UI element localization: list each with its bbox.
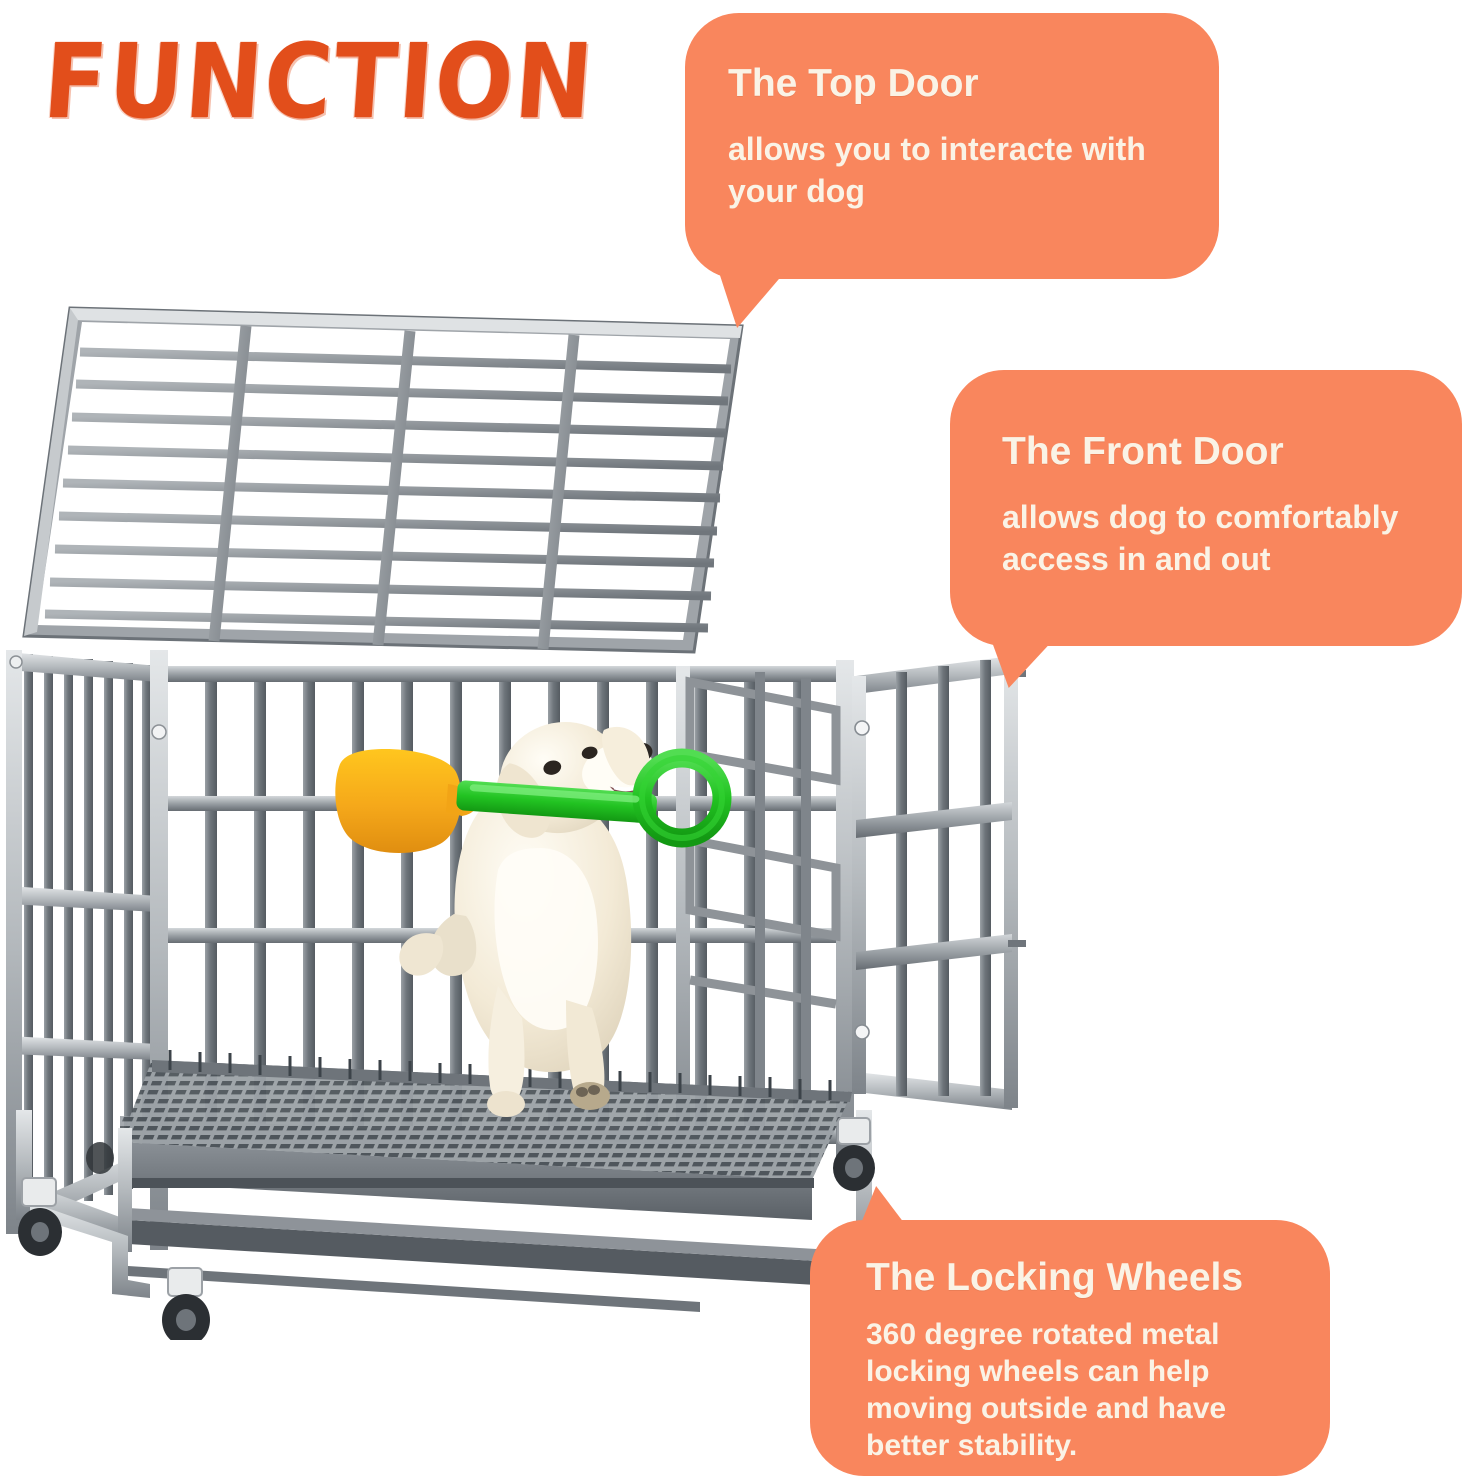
callout-locking-wheels-heading: The Locking Wheels (866, 1256, 1330, 1300)
callout-top-door-body: allows you to interacte with your dog (728, 128, 1190, 212)
caster-wheel-front-left (18, 1178, 62, 1256)
caster-wheel-back-right (833, 1118, 875, 1191)
caster-wheel-back-left (86, 1142, 114, 1174)
callout-top-door-heading: The Top Door (728, 62, 1219, 106)
page-title-text: FUNCTION (40, 24, 608, 140)
toy-shovel (330, 740, 750, 870)
callout-front-door-body: allows dog to comfortably access in and … (1002, 496, 1432, 580)
front-door-panel[interactable] (852, 656, 1026, 1110)
infographic-canvas: FUNCTION (0, 0, 1484, 1484)
caster-wheel-front-right (162, 1268, 210, 1340)
page-title: FUNCTION (48, 24, 608, 134)
toy-shovel-svg (330, 740, 750, 870)
callout-front-door[interactable]: The Front Door allows dog to comfortably… (950, 370, 1462, 646)
callout-locking-wheels-body: 360 degree rotated metal locking wheels … (866, 1316, 1296, 1464)
callout-locking-wheels[interactable]: The Locking Wheels 360 degree rotated me… (810, 1220, 1330, 1476)
top-door-lid[interactable] (24, 308, 742, 652)
callout-front-door-heading: The Front Door (1002, 430, 1462, 474)
callout-top-door[interactable]: The Top Door allows you to interacte wit… (685, 13, 1219, 279)
